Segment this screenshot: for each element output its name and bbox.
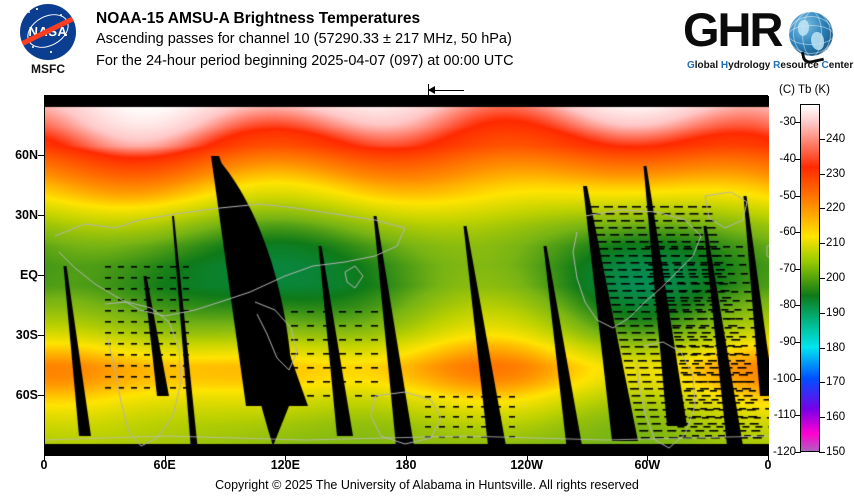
- ghrc-wordmark: GHR: [683, 4, 781, 56]
- y-axis-tick: [38, 335, 44, 336]
- colorbar-tick-right: [819, 417, 825, 418]
- colorbar-tick-right: [819, 139, 825, 140]
- ghrc-tagline: Global Hydrology Resource Center: [687, 60, 853, 71]
- colorbar-tick-right: [819, 313, 825, 314]
- nasa-center-label: MSFC: [12, 62, 84, 76]
- y-axis-label: 30S: [2, 328, 38, 342]
- colorbar-kelvin-label: 210: [826, 237, 845, 249]
- y-axis-tick: [38, 155, 44, 156]
- colorbar-tick-right: [819, 382, 825, 383]
- brightness-temperature-heatmap: [45, 96, 769, 456]
- page-title: NOAA-15 AMSU-A Brightness Temperatures: [96, 8, 514, 29]
- colorbar-tick-right: [819, 348, 825, 349]
- colorbar-kelvin-label: 230: [826, 168, 845, 180]
- colorbar-tick-left: [795, 452, 801, 453]
- colorbar-tick-left: [795, 159, 801, 160]
- colorbar-celsius-label: -90: [762, 336, 796, 348]
- colorbar-celsius-label: -50: [762, 190, 796, 202]
- colorbar-tick-right: [819, 174, 825, 175]
- colorbar-tick-right: [819, 278, 825, 279]
- x-axis-tick: [406, 455, 407, 461]
- y-axis-tick: [38, 395, 44, 396]
- colorbar-tick-right: [819, 243, 825, 244]
- colorbar-tick-left: [795, 415, 801, 416]
- nasa-meatball-icon: NASA: [20, 4, 76, 60]
- page-header: NASA MSFC NOAA-15 AMSU-A Brightness Temp…: [0, 0, 854, 88]
- map-plot-area: [44, 95, 768, 455]
- colorbar-celsius-label: -110: [762, 409, 796, 421]
- y-axis-label: EQ: [2, 268, 38, 282]
- colorbar-title: (C) Tb (K): [779, 84, 830, 96]
- title-block: NOAA-15 AMSU-A Brightness Temperatures A…: [96, 8, 514, 72]
- colorbar-kelvin-label: 170: [826, 376, 845, 388]
- page-subtitle-period: For the 24-hour period beginning 2025-04…: [96, 51, 514, 73]
- colorbar-kelvin-label: 190: [826, 307, 845, 319]
- x-axis-tick: [527, 455, 528, 461]
- colorbar-kelvin-label: 180: [826, 342, 845, 354]
- y-axis-tick: [38, 275, 44, 276]
- colorbar-kelvin-label: 240: [826, 133, 845, 145]
- colorbar-kelvin-label: 200: [826, 272, 845, 284]
- colorbar-kelvin-label: 150: [826, 446, 845, 458]
- colorbar-celsius-label: -70: [762, 263, 796, 275]
- colorbar-tick-left: [795, 232, 801, 233]
- colorbar-kelvin-label: 220: [826, 202, 845, 214]
- copyright-notice: Copyright © 2025 The University of Alaba…: [0, 478, 854, 492]
- colorbar-tick-left: [795, 379, 801, 380]
- colorbar-tick-left: [795, 342, 801, 343]
- colorbar-celsius-label: -30: [762, 116, 796, 128]
- nasa-logo: NASA MSFC: [12, 4, 84, 82]
- orbit-start-marker: [406, 84, 466, 95]
- page-subtitle-channel: Ascending passes for channel 10 (57290.3…: [96, 29, 514, 51]
- map-frame: [44, 95, 768, 455]
- y-axis-label: 60N: [2, 148, 38, 162]
- ghrc-logo: GHR Global Hydrology Resource Center: [683, 6, 843, 78]
- colorbar-tick-left: [795, 305, 801, 306]
- colorbar-tick-left: [795, 269, 801, 270]
- x-axis-tick: [285, 455, 286, 461]
- colorbar-tick-right: [819, 452, 825, 453]
- x-axis-tick: [44, 455, 45, 461]
- colorbar-tick-left: [795, 196, 801, 197]
- y-axis-label: 30N: [2, 208, 38, 222]
- colorbar-kelvin-label: 160: [826, 411, 845, 423]
- colorbar-celsius-label: -60: [762, 226, 796, 238]
- colorbar-celsius-label: -40: [762, 153, 796, 165]
- colorbar-tick-left: [795, 122, 801, 123]
- y-axis-tick: [38, 215, 44, 216]
- x-axis-tick: [165, 455, 166, 461]
- x-axis-tick: [647, 455, 648, 461]
- colorbar-celsius-label: -100: [762, 373, 796, 385]
- colorbar-tick-right: [819, 208, 825, 209]
- colorbar-gradient: [800, 104, 820, 452]
- y-axis-label: 60S: [2, 388, 38, 402]
- colorbar-celsius-label: -120: [762, 446, 796, 458]
- colorbar-celsius-label: -80: [762, 299, 796, 311]
